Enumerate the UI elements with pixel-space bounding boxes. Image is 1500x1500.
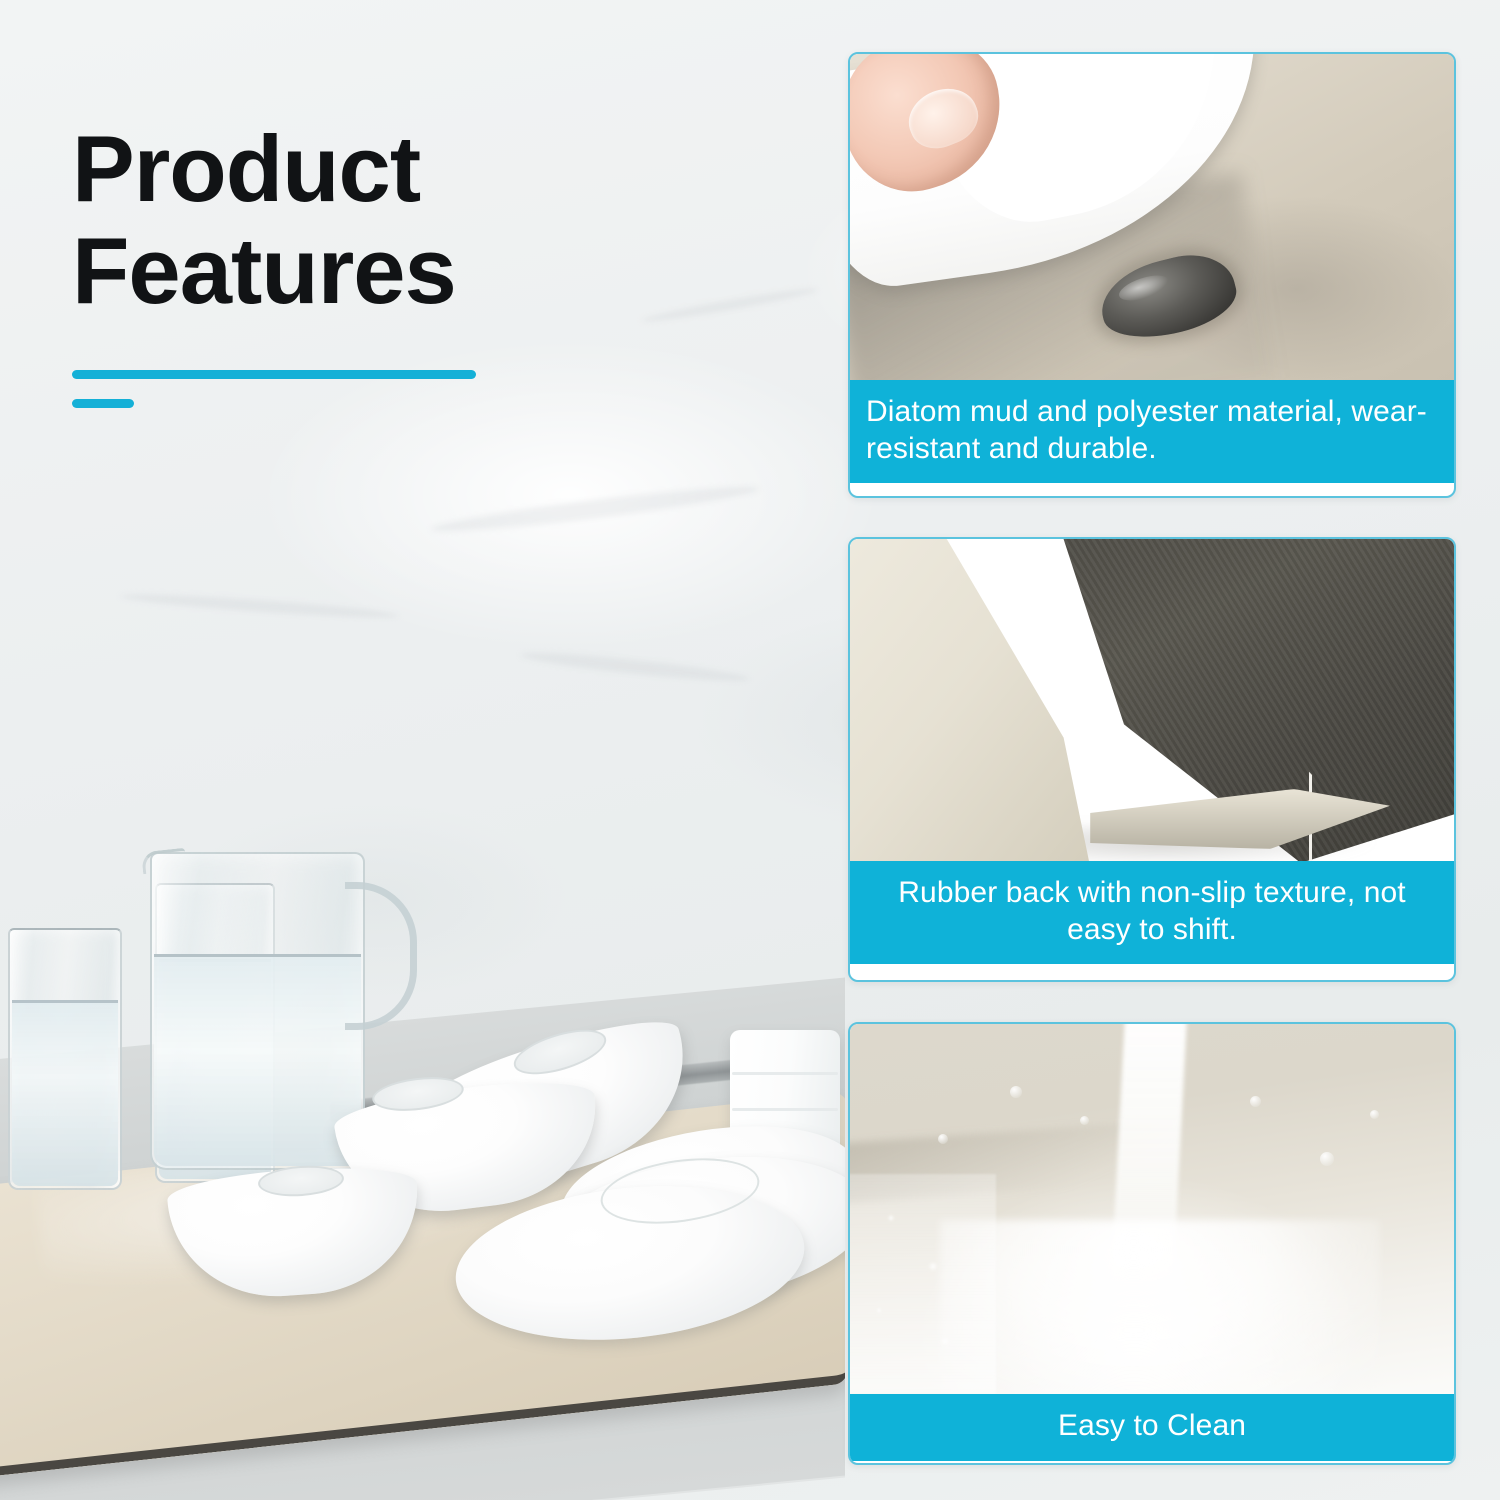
page-title-line-2: Features (72, 220, 772, 322)
cup-rim-line (732, 1108, 838, 1111)
water-splash (940, 1220, 1380, 1394)
cup-rim-line (732, 1072, 838, 1075)
feature-card-non-slip[interactable]: Rubber back with non-slip texture, not e… (848, 537, 1456, 982)
water-droplet (1010, 1086, 1022, 1098)
feature-caption-easy-clean: Easy to Clean (850, 1394, 1454, 1461)
water-droplet (1250, 1096, 1261, 1107)
page-title: Product Features (72, 118, 772, 321)
water-droplet (1080, 1116, 1089, 1125)
glass-pitcher (150, 852, 365, 1170)
feature-caption-material: Diatom mud and polyester material, wear-… (850, 380, 1454, 483)
feature-photo-easy-clean (850, 1024, 1454, 1394)
water-droplet (1370, 1110, 1379, 1119)
page-title-line-1: Product (72, 118, 772, 220)
title-accent-bar-short (72, 399, 134, 408)
infographic-canvas: Product Features (0, 0, 1500, 1500)
water-glass (8, 928, 122, 1190)
water-droplet (938, 1134, 948, 1144)
feature-photo-non-slip (850, 539, 1454, 861)
title-accent-bar-long (72, 370, 476, 379)
water-droplet (1320, 1152, 1334, 1166)
feature-caption-non-slip: Rubber back with non-slip texture, not e… (850, 861, 1454, 964)
pitcher-spout (141, 848, 187, 874)
product-lifestyle-photo (0, 700, 845, 1500)
water-foam (850, 1174, 996, 1394)
pitcher-handle (345, 882, 417, 1030)
feature-card-easy-clean[interactable]: Easy to Clean (848, 1022, 1456, 1465)
water-fill (12, 1000, 118, 1186)
feature-photo-material (850, 54, 1454, 380)
water-fill (154, 954, 361, 1166)
feature-card-material[interactable]: Diatom mud and polyester material, wear-… (848, 52, 1456, 498)
